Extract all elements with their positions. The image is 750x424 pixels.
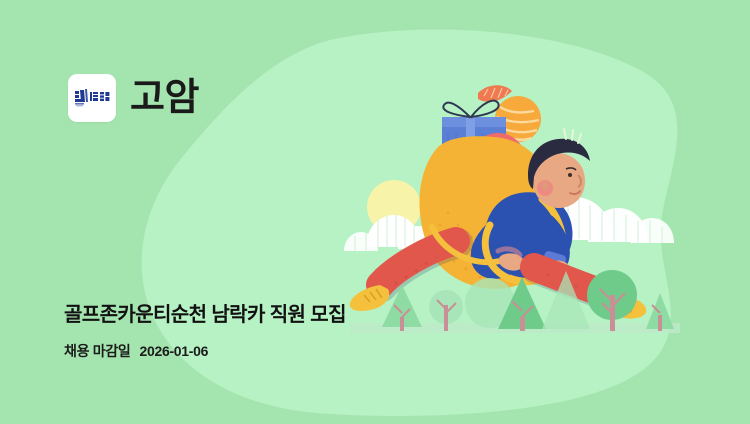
torso-shirt: [485, 192, 572, 280]
company-logo[interactable]: [68, 74, 116, 122]
tree-5: [542, 271, 590, 329]
back-leg: [350, 241, 458, 311]
yellow-sack: [420, 136, 557, 289]
tree-6: [587, 270, 637, 331]
white-bush-left: [344, 215, 438, 251]
shoe-back-icon: [350, 285, 389, 311]
tree-row: [382, 270, 674, 331]
deadline-label: 채용 마감일: [64, 341, 131, 361]
deadline-date: 2026-01-06: [140, 343, 209, 359]
sun-icon: [367, 180, 421, 234]
blue-gift-box-icon: [442, 101, 506, 179]
front-leg: [534, 267, 646, 319]
front-arm: [543, 225, 570, 275]
page-title: 골프존카운티순천 남락카 직원 모집: [64, 303, 346, 328]
brand-row: 고암: [68, 74, 199, 122]
orange-crescent-icon: [478, 85, 512, 102]
posting-text-block: 골프존카운티순천 남락카 직원 모집 채용 마감일 2026-01-06: [64, 303, 346, 361]
tree-3: [465, 278, 515, 328]
patterned-ball-icon: [470, 133, 526, 189]
tree-2: [429, 290, 463, 331]
sack-strap: [432, 199, 563, 282]
brand-name: 고암: [130, 79, 199, 117]
head: [528, 129, 590, 208]
job-posting-card: 고암 골프존카운티순천 남락카 직원 모집 채용 마감일 2026-01-06: [0, 0, 750, 424]
shoe-front-icon: [607, 295, 646, 319]
ground-strip: [350, 323, 680, 333]
back-hand: [498, 249, 524, 271]
goam-logo-icon: [73, 88, 111, 108]
tree-7: [646, 293, 674, 331]
illustration-running-man-with-gifts: [330, 55, 700, 345]
tree-1: [382, 285, 422, 331]
white-bush-right: [536, 197, 674, 243]
tree-4: [498, 277, 546, 331]
deadline-row: 채용 마감일 2026-01-06: [64, 341, 346, 361]
striped-ball-icon: [495, 96, 541, 142]
